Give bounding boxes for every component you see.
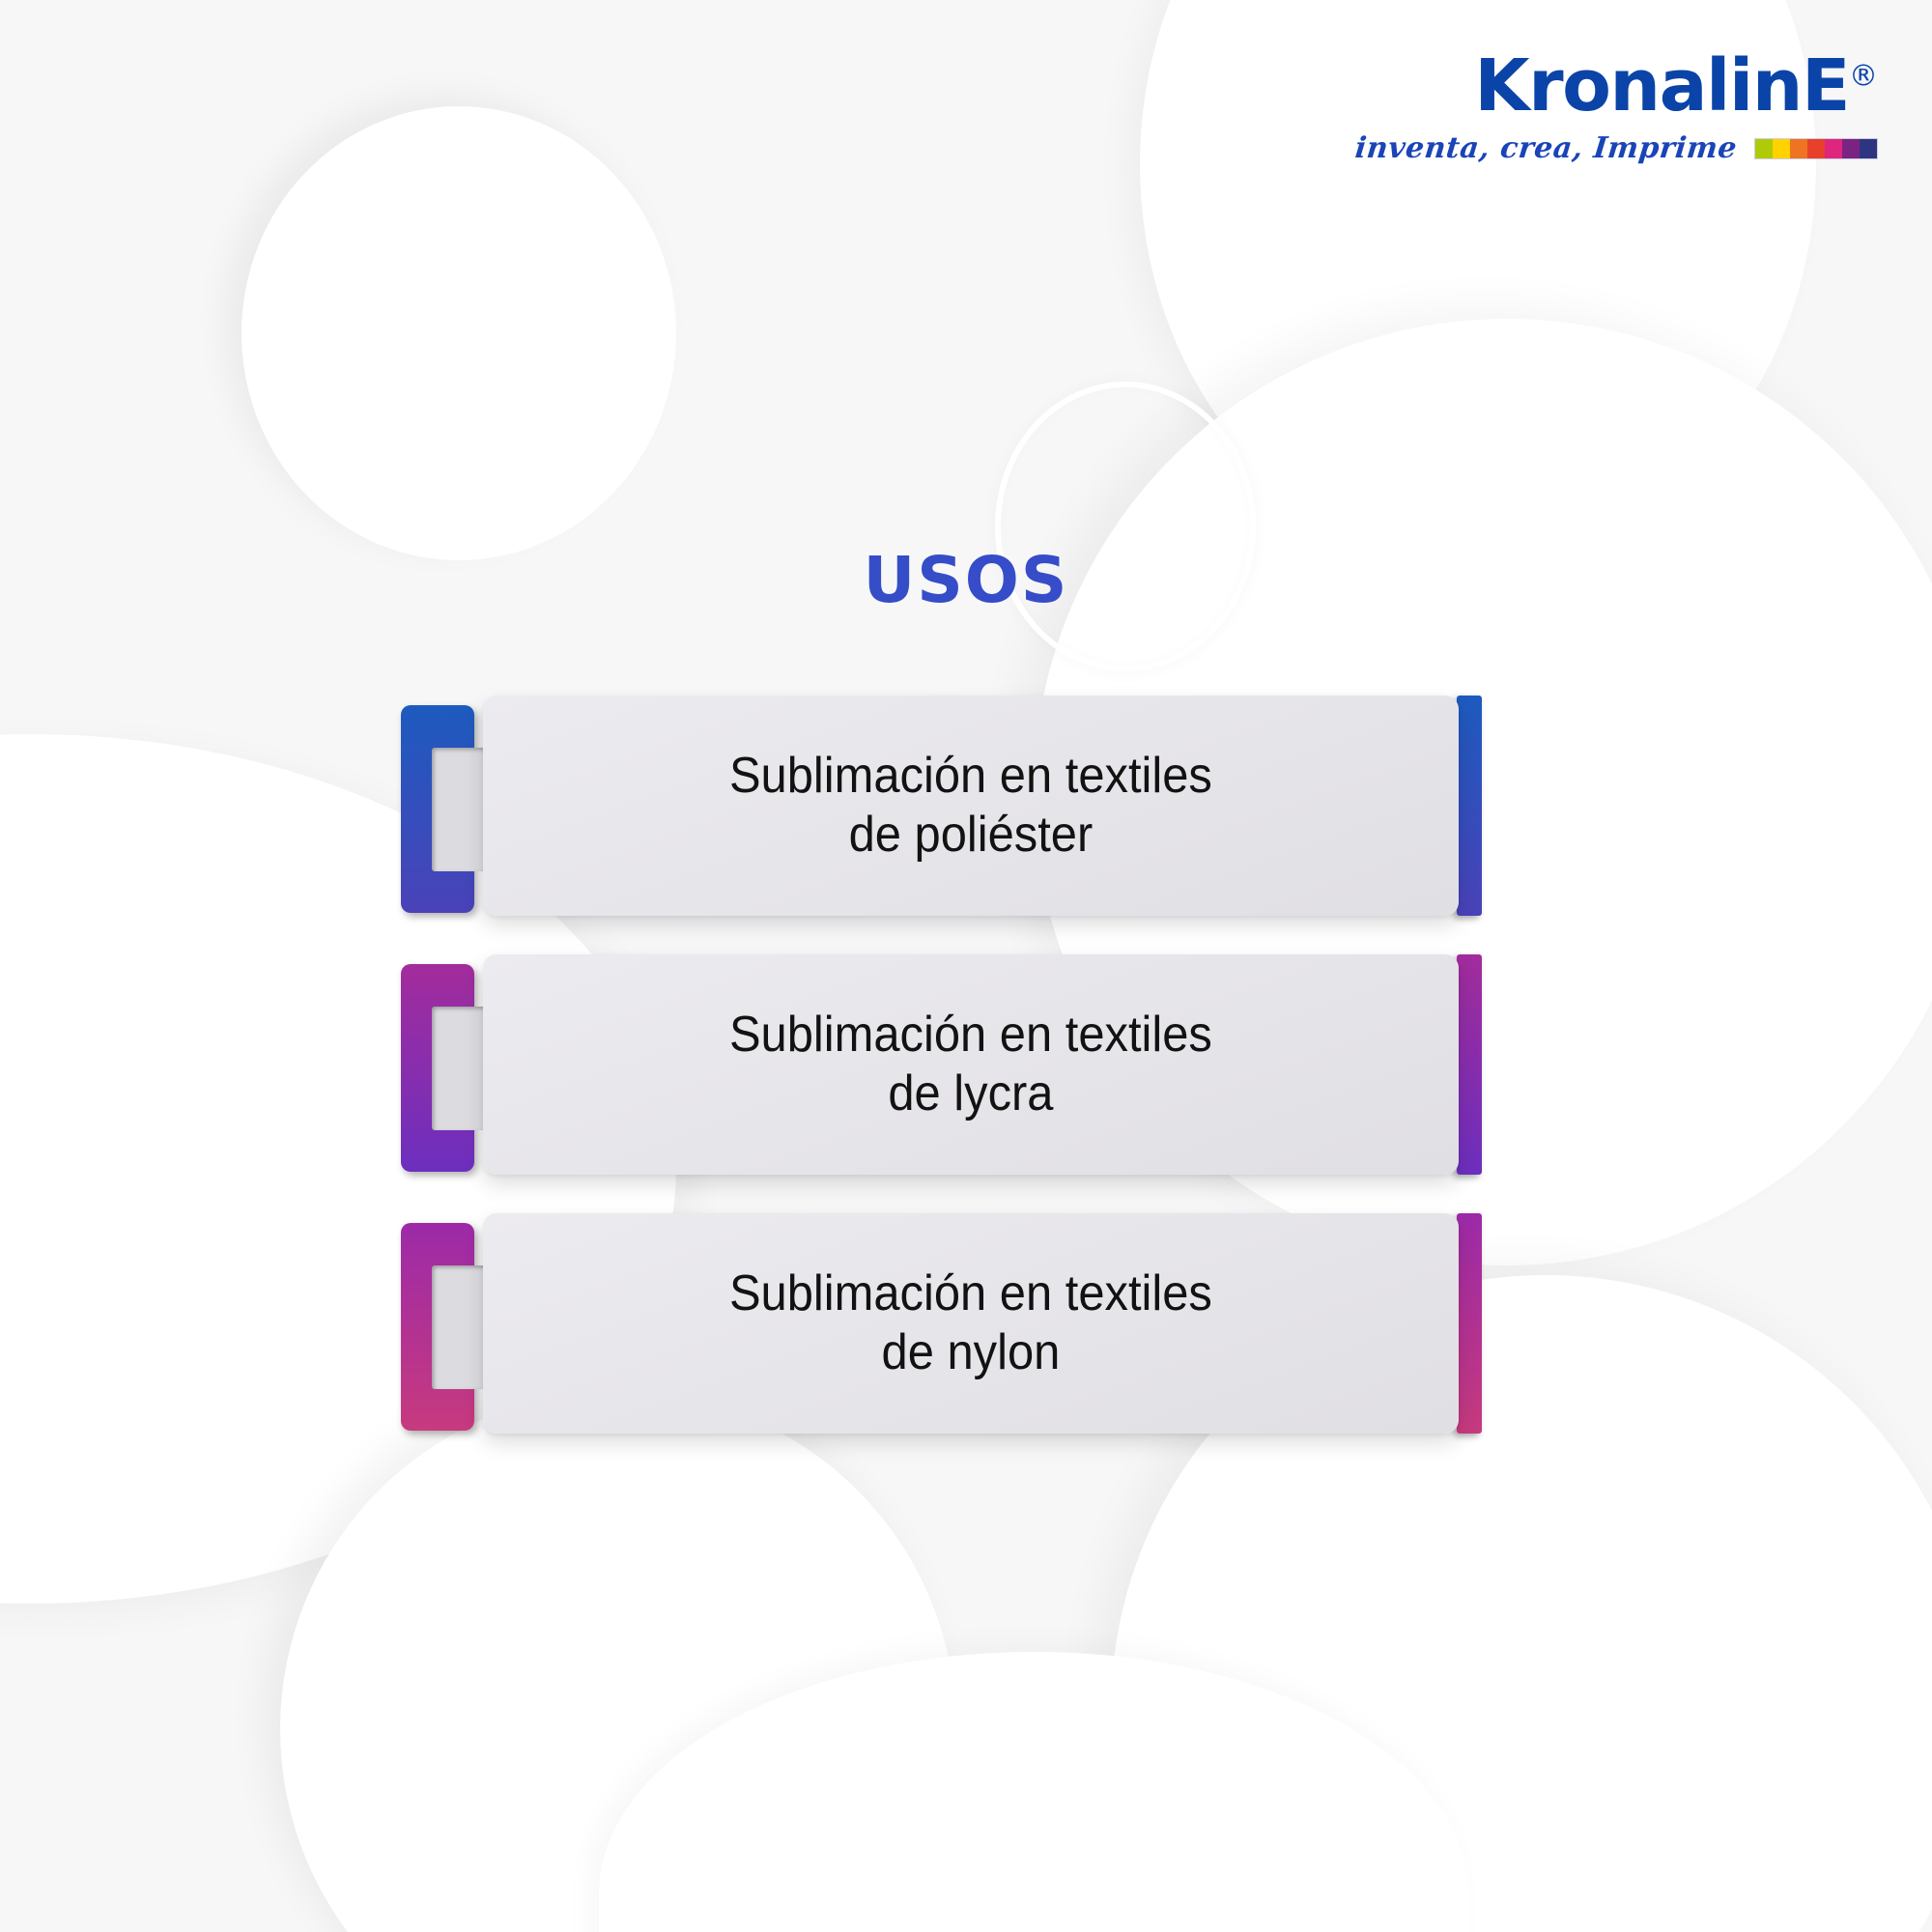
card-accent-bar [1457,1213,1482,1434]
card-label: Sublimación en textiles de lycra [729,1006,1212,1124]
brand-swatch-6 [1842,139,1860,158]
poster-canvas: KronalinE® inventa, crea, Imprime USOS S… [0,0,1932,1932]
usos-card-list: Sublimación en textiles de poliésterSubl… [0,0,1932,1932]
brand-subline: inventa, crea, Imprime [1355,131,1878,165]
card-accent-bar [1457,696,1482,916]
brand-swatch-3 [1790,139,1807,158]
card-panel[interactable]: Sublimación en textiles de poliéster [483,696,1459,916]
usos-card[interactable]: Sublimación en textiles de nylon [0,1213,1932,1440]
card-label: Sublimación en textiles de poliéster [729,747,1212,866]
card-panel[interactable]: Sublimación en textiles de nylon [483,1213,1459,1434]
brand-logo: KronalinE® inventa, crea, Imprime [1355,50,1878,165]
brand-tagline: inventa, crea, Imprime [1353,131,1739,165]
card-bracket-icon [401,705,474,913]
card-panel[interactable]: Sublimación en textiles de lycra [483,954,1459,1175]
card-bracket-icon [401,1223,474,1431]
brand-color-swatches [1754,138,1878,159]
brand-swatch-5 [1825,139,1842,158]
card-label: Sublimación en textiles de nylon [729,1264,1212,1383]
usos-card[interactable]: Sublimación en textiles de lycra [0,954,1932,1181]
page-title: USOS [0,543,1932,617]
brand-wordmark: KronalinE® [1355,50,1878,122]
usos-card[interactable]: Sublimación en textiles de poliéster [0,696,1932,923]
registered-trademark-icon: ® [1849,59,1878,93]
brand-swatch-2 [1773,139,1790,158]
brand-swatch-7 [1860,139,1877,158]
brand-swatch-4 [1807,139,1825,158]
card-accent-bar [1457,954,1482,1175]
card-bracket-icon [401,964,474,1172]
brand-swatch-1 [1755,139,1773,158]
brand-wordmark-text: KronalinE [1474,44,1849,128]
